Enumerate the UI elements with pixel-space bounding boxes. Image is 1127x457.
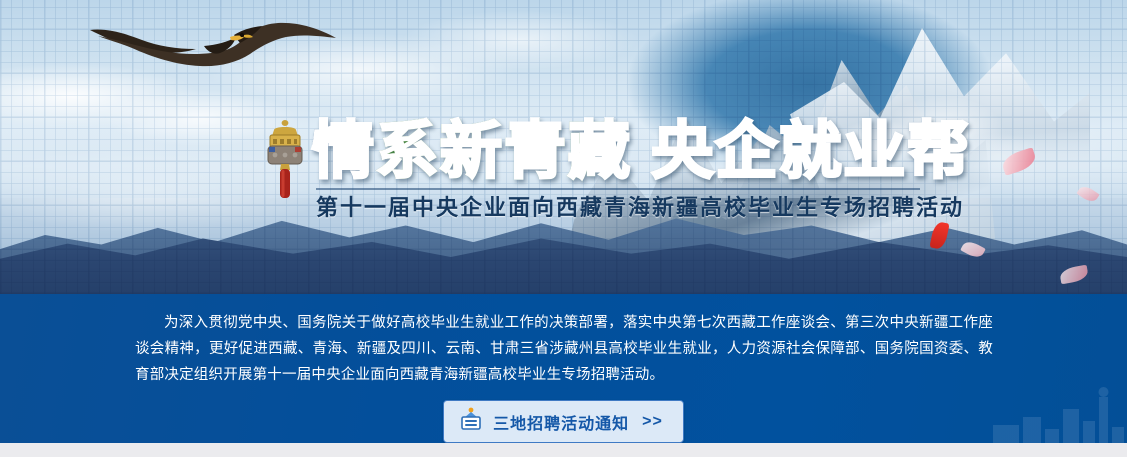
page-root: 情系新青藏 央企就业帮 第十一届中央企业面向西藏青海新疆高校毕业生专场招聘活动 xyxy=(0,0,1127,457)
page-footer-strip xyxy=(0,443,1127,457)
notice-button-label: 三地招聘活动通知 xyxy=(493,410,629,434)
notice-board-icon xyxy=(458,407,484,436)
hero-banner: 情系新青藏 央企就业帮 第十一届中央企业面向西藏青海新疆高校毕业生专场招聘活动 xyxy=(0,0,1127,294)
title-divider xyxy=(316,188,920,190)
prayer-wheel-icon xyxy=(256,116,314,200)
notice-announcement-button[interactable]: 三地招聘活动通知 >> xyxy=(443,400,684,443)
info-section: 为深入贯彻党中央、国务院关于做好高校毕业生就业工作的决策部署，落实中央第七次西藏… xyxy=(0,294,1127,443)
banner-title-block: 情系新青藏 央企就业帮 第十一届中央企业面向西藏青海新疆高校毕业生专场招聘活动 xyxy=(312,118,924,222)
eagle-icon xyxy=(84,2,340,74)
notice-button-arrows: >> xyxy=(642,413,663,431)
notice-button-row: 三地招聘活动通知 >> xyxy=(0,400,1127,443)
page-title: 情系新青藏 央企就业帮 xyxy=(312,118,924,186)
page-subtitle: 第十一届中央企业面向西藏青海新疆高校毕业生专场招聘活动 xyxy=(316,194,924,222)
announcement-paragraph: 为深入贯彻党中央、国务院关于做好高校毕业生就业工作的决策部署，落实中央第七次西藏… xyxy=(135,310,993,388)
